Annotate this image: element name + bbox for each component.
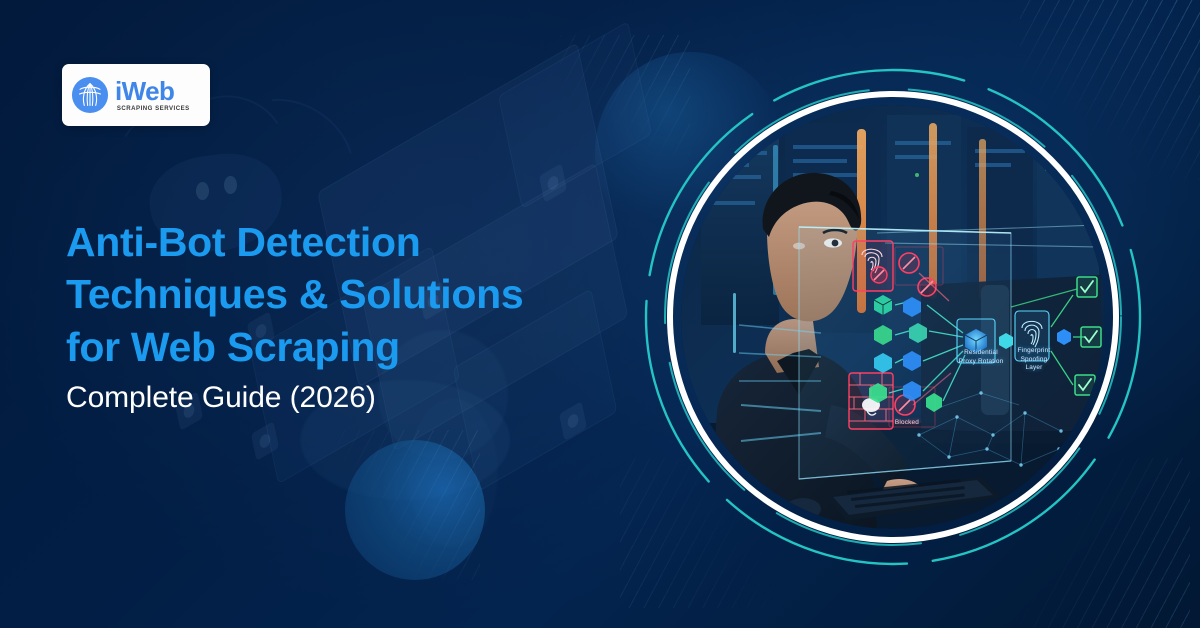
spider-leg [211, 76, 375, 232]
headline-block: Anti-Bot Detection Techniques & Solution… [66, 216, 626, 415]
spider-eye-right-icon [224, 176, 237, 194]
page-title: Anti-Bot Detection Techniques & Solution… [66, 216, 626, 373]
iweb-globe-icon [71, 76, 109, 114]
hero-graphic: ResidentialProxy Rotation FingerprintSpo… [633, 57, 1153, 577]
hero-photo-scene [681, 105, 1105, 529]
label-blocked: Blocked [887, 419, 927, 428]
isometric-device [498, 21, 652, 209]
label-fingerprint-spoofing-layer: FingerprintSpoofingLayer [1011, 347, 1057, 373]
banner-canvas: iWeb SCRAPING SERVICES Anti-Bot Detectio… [0, 0, 1200, 628]
circuit-chip-icon [539, 163, 567, 203]
logo-wordmark: iWeb SCRAPING SERVICES [115, 78, 196, 113]
title-line-3: for Web Scraping [66, 321, 626, 373]
accent-circle-shape [345, 440, 485, 580]
logo-word: iWeb [115, 78, 196, 104]
page-subtitle: Complete Guide (2026) [66, 381, 626, 415]
label-residential-proxy-rotation: ResidentialProxy Rotation [949, 349, 1013, 366]
spider-eye-left-icon [196, 182, 209, 200]
soft-cylinder-shape [408, 398, 498, 548]
logo-tagline: SCRAPING SERVICES [115, 106, 190, 113]
title-line-1: Anti-Bot Detection [66, 216, 626, 268]
title-line-2: Techniques & Solutions [66, 268, 626, 320]
hero-photo: ResidentialProxy Rotation FingerprintSpo… [681, 105, 1105, 529]
circuit-chip-icon [251, 421, 279, 461]
diagonal-hatch-lower-left [330, 430, 480, 580]
brand-logo[interactable]: iWeb SCRAPING SERVICES [62, 64, 210, 126]
